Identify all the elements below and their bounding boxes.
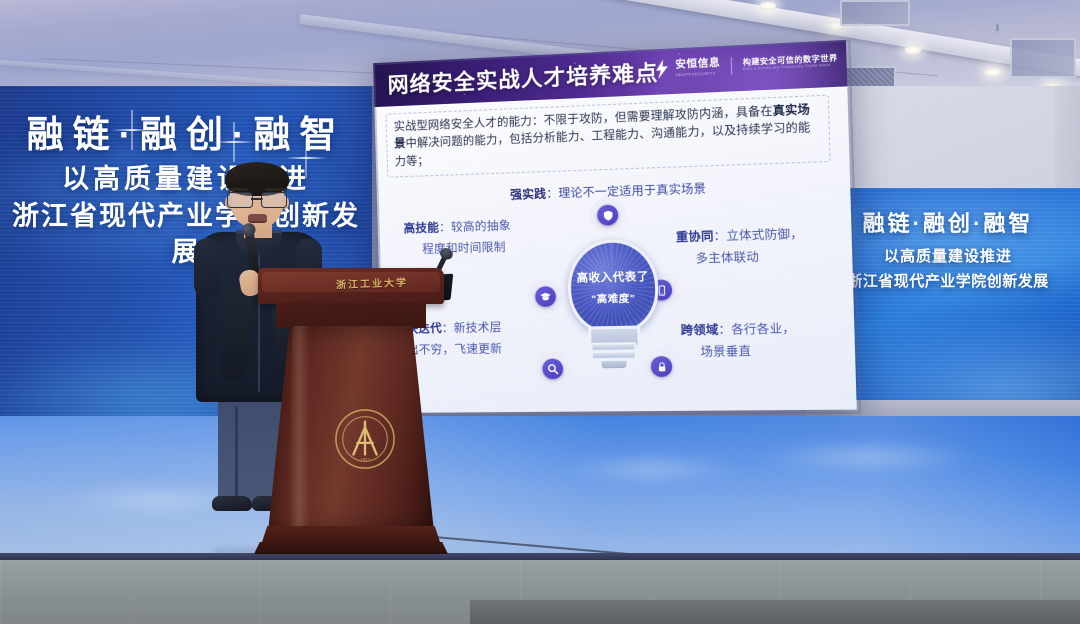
ceiling-spotlight — [905, 46, 921, 54]
podium-neck — [276, 302, 426, 328]
label-skill-desc1: 较高的抽象 — [451, 219, 511, 234]
practice-term: 强实践 — [510, 188, 546, 201]
brand-sub: DBAPPSECURITY — [675, 71, 720, 77]
label-iter-desc1: 新技术层 — [454, 321, 502, 335]
brand-text: 安恒信息 DBAPPSECURITY — [675, 58, 720, 77]
floor-reflection — [760, 442, 980, 472]
practice-sep: ： — [546, 188, 558, 201]
label-skill-sep: ： — [439, 221, 451, 234]
practice-desc: 理论不一定适用于真实场景 — [558, 183, 706, 200]
ceiling-vent — [840, 0, 910, 26]
label-skill-term: 高技能 — [403, 221, 439, 235]
speaker-leg-seam — [235, 406, 238, 502]
brand-divider — [731, 57, 733, 75]
label-cross-domain: 跨领域：各行各业， 场景垂直 — [680, 317, 844, 364]
bulb-glass: 高收入代表了 "高难度" — [567, 238, 660, 335]
label-coop-term: 重协同 — [676, 230, 714, 245]
ceiling-spotlight — [985, 68, 1001, 76]
eyeglass-lens-right — [261, 192, 287, 208]
label-coop-desc2: 多主体联动 — [676, 244, 839, 270]
speaker-eyeglasses — [227, 192, 287, 207]
ceiling-vent — [1010, 38, 1076, 78]
label-high-skill: 高技能：较高的抽象 程度和时间限制 — [403, 214, 557, 262]
label-cross-desc2: 场景垂直 — [681, 339, 844, 364]
stage-floor — [0, 416, 1080, 566]
label-cross-sep: ： — [718, 323, 731, 337]
search-icon — [542, 359, 563, 380]
dbappsecurity-logo-icon — [654, 59, 670, 79]
lead-paragraph-box: 实战型网络安全人才的能力：不限于攻防，但需要理解攻防内涵，具备在真实场景中解决问… — [385, 95, 830, 178]
lectern-podium: 浙江工业大学 1953 — [258, 268, 444, 560]
speaker-mouth — [248, 214, 267, 223]
lead-highlight: 真实场景 — [394, 104, 810, 151]
label-coordination: 重协同：立体式防御， 多主体联动 — [676, 222, 840, 271]
conference-stage-photo: 融链·融创·融智 以高质量建设推进 浙江省现代产业学院创新发展 融链·融创·融智… — [0, 0, 1080, 624]
lead-paragraph: 实战型网络安全人才的能力：不限于攻防，但需要理解攻防内涵，具备在真实场景中解决问… — [394, 101, 822, 171]
podium-top: 浙江工业大学 — [258, 268, 444, 304]
bulb-line2: "高难度" — [591, 290, 635, 306]
ceiling-spotlight — [760, 2, 776, 10]
university-emblem-icon: 1953 — [334, 408, 396, 470]
podium-institution-text: 浙江工业大学 — [336, 274, 408, 292]
speaker-shoe-left — [212, 496, 252, 511]
brand-name: 安恒信息 — [675, 58, 720, 70]
floor-reflection — [560, 456, 740, 482]
node-graduation — [528, 279, 564, 314]
graduation-cap-icon — [535, 286, 556, 307]
brand-tagline: 构建安全可信的数字世界 Build a Secure and Trustwort… — [743, 54, 838, 72]
eyeglass-lens-left — [227, 192, 253, 208]
hall-floor — [470, 600, 1080, 624]
label-coop-desc1: 立体式防御， — [726, 227, 803, 243]
label-cross-term: 跨领域 — [680, 323, 718, 337]
bulb-base — [599, 359, 629, 371]
label-coop-sep: ： — [713, 229, 726, 243]
speaker-shoulder-left — [194, 238, 220, 298]
shield-icon — [597, 204, 619, 225]
label-cross-desc1: 各行各业， — [731, 322, 795, 337]
node-shield — [589, 197, 626, 233]
lightbulb-graphic: 高收入代表了 "高难度" — [563, 238, 659, 368]
svg-text:1953: 1953 — [360, 458, 370, 463]
presentation-screen: 网络安全实战人才培养难点 安恒信息 DBAPPSECURITY 构建安全可信的数… — [373, 40, 857, 413]
speaker-eyebrow-left — [229, 188, 249, 191]
speaker-eyebrow-right — [265, 188, 285, 191]
bulb-line1: 高收入代表了 — [576, 268, 649, 286]
sprinkler-head-icon — [996, 24, 999, 33]
podium-plinth — [254, 542, 448, 554]
label-skill-desc2: 程度和时间限制 — [404, 235, 557, 261]
